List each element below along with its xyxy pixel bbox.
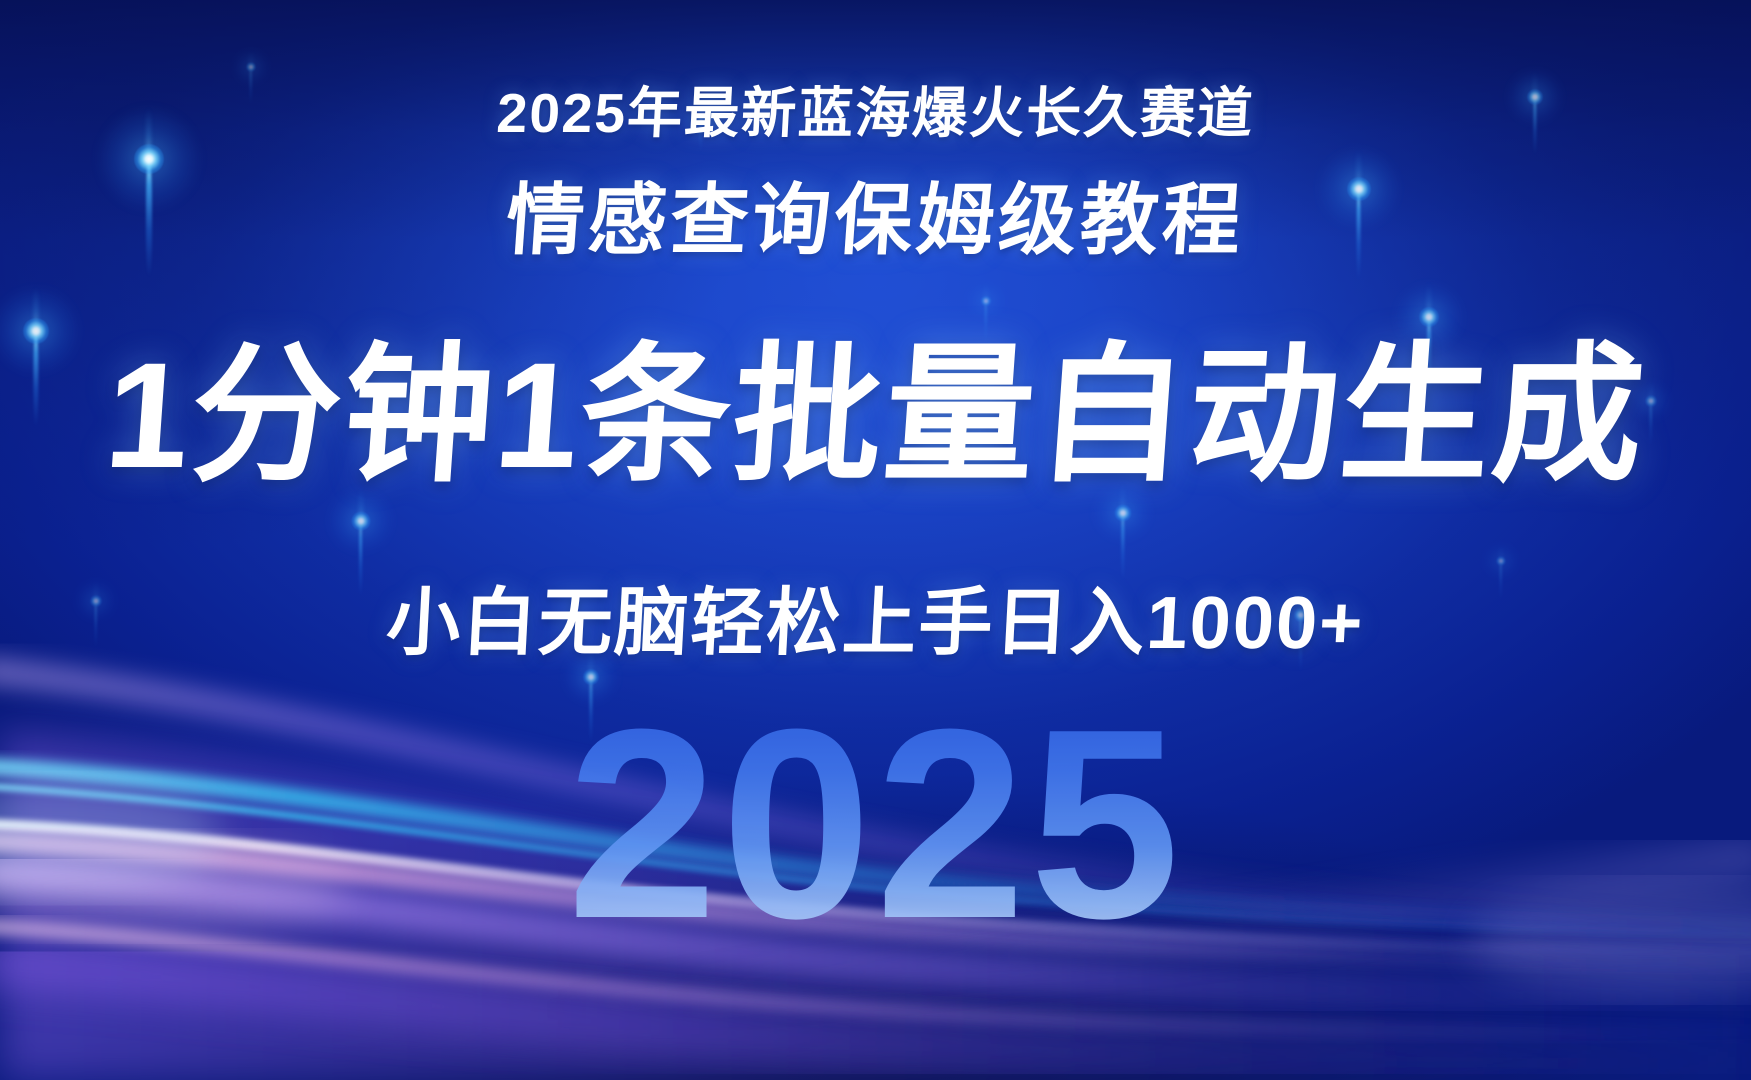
poster-text-content: 2025年最新蓝海爆火长久赛道 情感查询保姆级教程 1分钟1条批量自动生成 小白… bbox=[0, 0, 1751, 1080]
poster-headline-text: 1分钟1条批量自动生成 bbox=[0, 336, 1751, 495]
poster-subheadline-text: 情感查询保姆级教程 bbox=[0, 178, 1751, 262]
poster-tagline-text: 小白无脑轻松上手日入1000+ bbox=[0, 583, 1751, 663]
promotional-poster: 2025 2025年最新蓝海爆火长久赛道 情感查询保姆级教程 1分钟1条批量自动… bbox=[0, 0, 1751, 1080]
poster-eyebrow-text: 2025年最新蓝海爆火长久赛道 bbox=[0, 84, 1751, 143]
